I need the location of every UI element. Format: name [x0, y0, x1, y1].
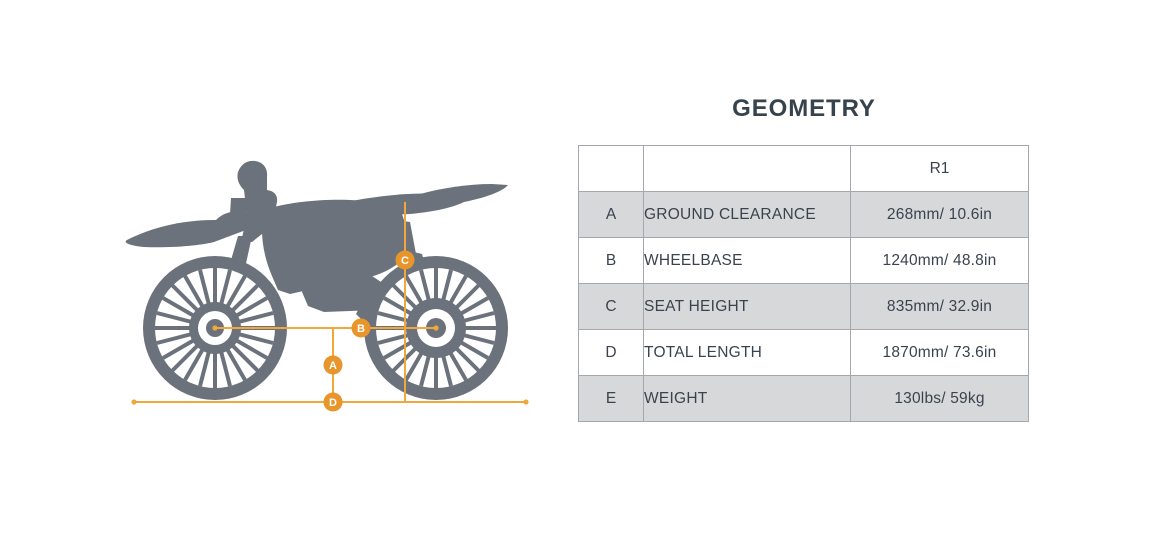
table-row: D TOTAL LENGTH 1870mm/ 73.6in — [579, 330, 1029, 376]
marker-badge-a-label: A — [329, 360, 337, 372]
row-label-b: WHEELBASE — [644, 238, 851, 284]
bike-silhouette-diagram: A B C D — [110, 150, 550, 430]
row-value-d: 1870mm/ 73.6in — [851, 330, 1029, 376]
row-value-e: 130lbs/ 59kg — [851, 376, 1029, 422]
marker-badge-d: D — [324, 393, 343, 412]
row-label-a: GROUND CLEARANCE — [644, 192, 851, 238]
row-value-c: 835mm/ 32.9in — [851, 284, 1029, 330]
row-key-d: D — [579, 330, 644, 376]
marker-badge-a: A — [324, 356, 343, 375]
bike-diagram-panel: A B C D — [0, 0, 560, 539]
geometry-table-body: A GROUND CLEARANCE 268mm/ 10.6in B WHEEL… — [579, 192, 1029, 422]
row-label-c: SEAT HEIGHT — [644, 284, 851, 330]
table-header-row: R1 — [579, 146, 1029, 192]
row-key-c: C — [579, 284, 644, 330]
marker-badge-c-label: C — [401, 255, 409, 267]
geometry-table: R1 A GROUND CLEARANCE 268mm/ 10.6in B WH… — [578, 145, 1029, 422]
table-row: A GROUND CLEARANCE 268mm/ 10.6in — [579, 192, 1029, 238]
row-label-d: TOTAL LENGTH — [644, 330, 851, 376]
row-key-a: A — [579, 192, 644, 238]
marker-badge-c: C — [396, 251, 415, 270]
row-value-b: 1240mm/ 48.8in — [851, 238, 1029, 284]
row-value-a: 268mm/ 10.6in — [851, 192, 1029, 238]
marker-badge-b: B — [352, 319, 371, 338]
geometry-panel: GEOMETRY R1 A GROUND CLEARANCE 268mm/ 10… — [578, 95, 1030, 422]
row-label-e: WEIGHT — [644, 376, 851, 422]
header-blank-label — [644, 146, 851, 192]
table-row: E WEIGHT 130lbs/ 59kg — [579, 376, 1029, 422]
table-row: B WHEELBASE 1240mm/ 48.8in — [579, 238, 1029, 284]
header-blank-key — [579, 146, 644, 192]
marker-badge-b-label: B — [357, 323, 365, 335]
row-key-b: B — [579, 238, 644, 284]
table-row: C SEAT HEIGHT 835mm/ 32.9in — [579, 284, 1029, 330]
header-model-r1: R1 — [851, 146, 1029, 192]
row-key-e: E — [579, 376, 644, 422]
page-title: GEOMETRY — [578, 95, 1030, 123]
marker-badge-d-label: D — [329, 397, 337, 409]
